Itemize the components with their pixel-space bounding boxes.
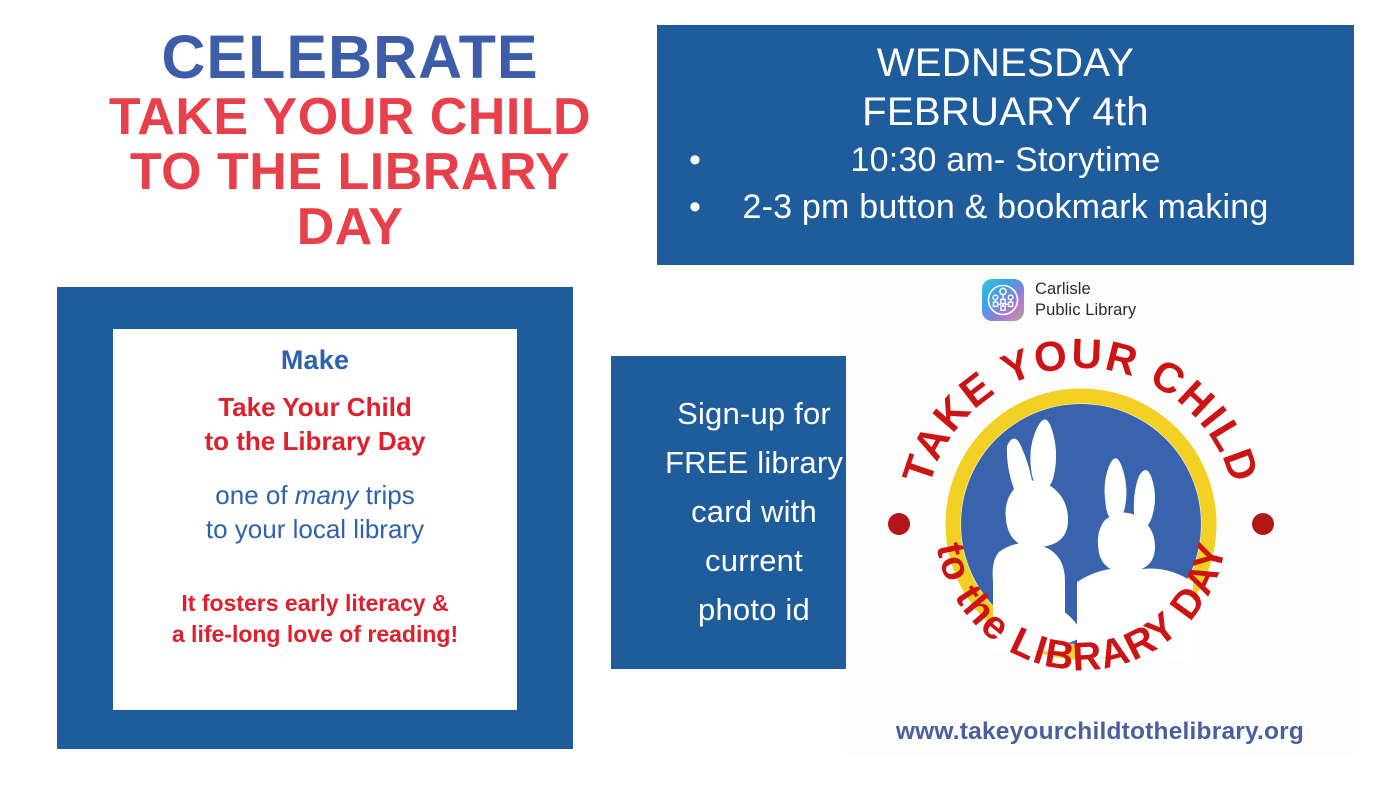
headline-line-2: TO THE LIBRARY bbox=[40, 145, 660, 200]
card-red-closing-line-1: It fosters early literacy & bbox=[123, 588, 507, 619]
take-your-child-to-the-library-day-badge: TAKE YOUR CHILD to the LIBRARY DAY bbox=[881, 324, 1281, 724]
schedule-item-label: 2-3 pm button & bookmark making bbox=[743, 188, 1269, 226]
schedule-day: WEDNESDAY bbox=[675, 39, 1336, 88]
card-blue-line-2: to your local library bbox=[123, 512, 507, 546]
badge-dot-right-icon bbox=[1252, 513, 1274, 535]
signup-text: Sign-up for FREE library card with curre… bbox=[665, 390, 843, 635]
schedule-item: • 2-3 pm button & bookmark making bbox=[675, 184, 1336, 231]
badge-website-url: www.takeyourchildtothelibrary.org bbox=[846, 718, 1354, 746]
card-blue-line-1-pre: one of bbox=[215, 480, 295, 510]
card-red-closing-line-2: a life-long love of reading! bbox=[123, 619, 507, 650]
card-blue-line-1-post: trips bbox=[358, 480, 414, 510]
network-nodes-icon bbox=[982, 279, 1024, 321]
schedule-item: • 10:30 am- Storytime bbox=[675, 137, 1336, 184]
headline-line-3: DAY bbox=[40, 200, 660, 255]
schedule-item-label: 10:30 am- Storytime bbox=[851, 141, 1161, 179]
schedule-date: FEBRUARY 4th bbox=[675, 88, 1336, 137]
badge-dot-left-icon bbox=[888, 513, 910, 535]
framed-message-card: Make Take Your Child to the Library Day … bbox=[57, 287, 573, 749]
bullet-icon: • bbox=[689, 184, 701, 231]
framed-card-inner: Make Take Your Child to the Library Day … bbox=[113, 329, 517, 710]
signup-line-3: card with bbox=[665, 488, 843, 537]
poster-canvas: CELEBRATE TAKE YOUR CHILD TO THE LIBRARY… bbox=[0, 0, 1400, 788]
signup-line-5: photo id bbox=[665, 586, 843, 635]
bullet-icon: • bbox=[689, 137, 701, 184]
card-red-title-line-2: to the Library Day bbox=[123, 424, 507, 458]
carlisle-library-lockup: Carlisle Public Library bbox=[982, 279, 1136, 321]
signup-line-4: current bbox=[665, 537, 843, 586]
schedule-box: WEDNESDAY FEBRUARY 4th • 10:30 am- Story… bbox=[657, 25, 1354, 265]
signup-line-2: FREE library bbox=[665, 439, 843, 488]
logo-panel: Carlisle Public Library bbox=[846, 272, 1354, 756]
carlisle-library-name: Carlisle Public Library bbox=[1035, 279, 1136, 320]
card-blue-body: one of many trips to your local library bbox=[123, 478, 507, 547]
card-make-label: Make bbox=[123, 343, 507, 378]
signup-line-1: Sign-up for bbox=[665, 390, 843, 439]
headline-celebrate: CELEBRATE bbox=[40, 26, 660, 88]
main-headline: CELEBRATE TAKE YOUR CHILD TO THE LIBRARY… bbox=[40, 26, 660, 256]
card-blue-line-1-emphasis: many bbox=[295, 480, 359, 510]
card-red-title: Take Your Child to the Library Day bbox=[123, 390, 507, 459]
headline-line-1: TAKE YOUR CHILD bbox=[40, 90, 660, 145]
card-red-closing: It fosters early literacy & a life-long … bbox=[123, 588, 507, 650]
card-red-title-line-1: Take Your Child bbox=[123, 390, 507, 424]
card-blue-line-1: one of many trips bbox=[123, 478, 507, 512]
